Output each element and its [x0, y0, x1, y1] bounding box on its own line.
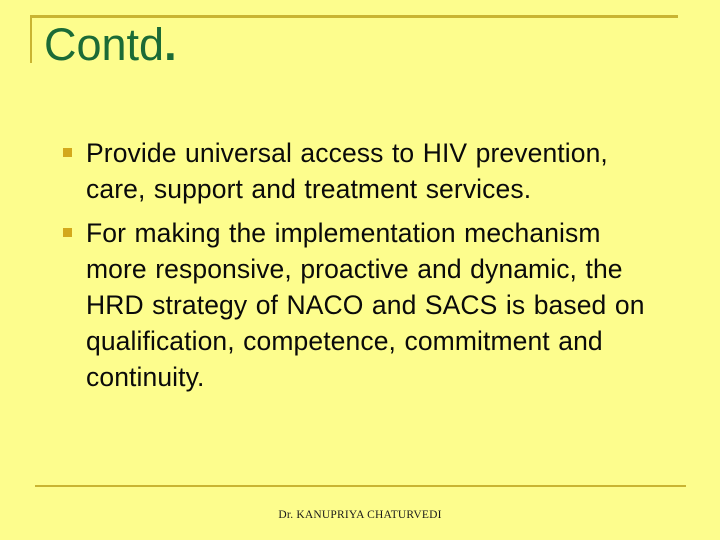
- list-item: For making the implementation mechanism …: [58, 215, 668, 395]
- footer-text: Dr. KANUPRIYA CHATURVEDI: [0, 509, 720, 521]
- title-rule-left-icon: [30, 15, 32, 63]
- square-bullet-icon: [63, 148, 72, 157]
- list-item-text: For making the implementation mechanism …: [86, 218, 645, 392]
- page-title-text: Contd: [44, 19, 164, 70]
- page-title: Contd.: [44, 20, 664, 70]
- bullet-list: Provide universal access to HIV preventi…: [58, 135, 668, 403]
- square-bullet-icon: [63, 228, 72, 237]
- slide-canvas: Contd. Provide universal access to HIV p…: [0, 0, 720, 540]
- title-rule-top-icon: [30, 15, 678, 18]
- list-item-text: Provide universal access to HIV preventi…: [86, 138, 608, 204]
- footer-divider: [35, 485, 686, 487]
- list-item: Provide universal access to HIV preventi…: [58, 135, 668, 207]
- page-title-terminator: .: [164, 19, 177, 70]
